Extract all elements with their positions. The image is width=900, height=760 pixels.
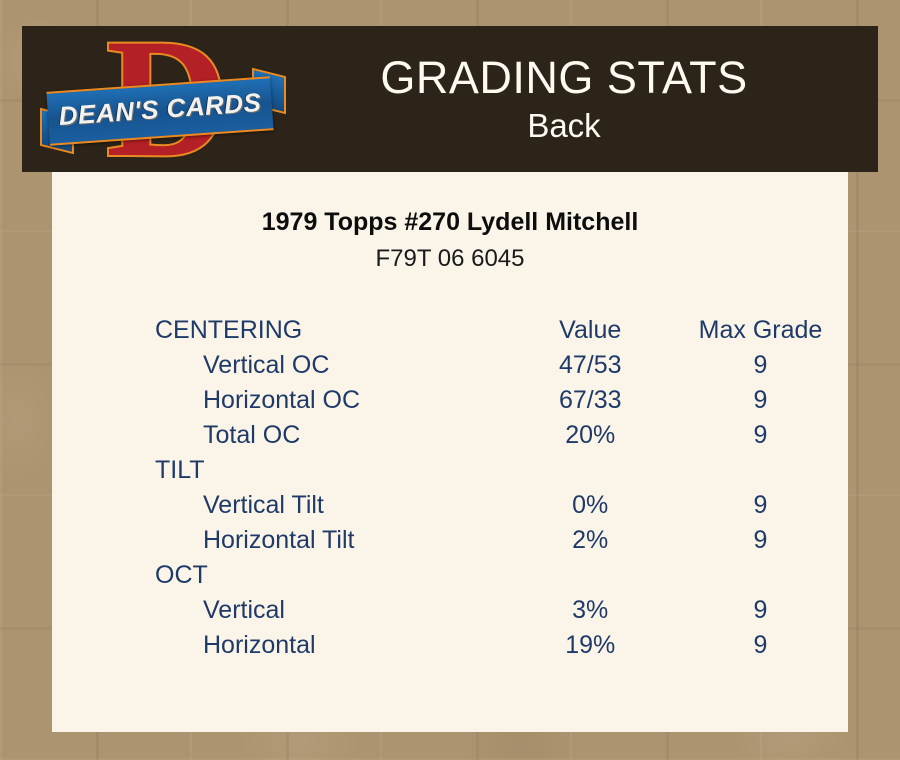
stat-label: Horizontal OC: [52, 383, 507, 418]
table-row: Vertical OC47/539: [52, 348, 848, 383]
table-row: Vertical3%9: [52, 593, 848, 628]
stats-table-head: CENTERING Value Max Grade: [52, 313, 848, 348]
stat-value: 20%: [507, 418, 673, 453]
stats-table-body: Vertical OC47/539Horizontal OC67/339Tota…: [52, 348, 848, 663]
stat-max-grade: 9: [673, 348, 848, 383]
stat-max-grade: 9: [673, 523, 848, 558]
stat-label: Vertical OC: [52, 348, 507, 383]
stat-value: 2%: [507, 523, 673, 558]
stat-max-grade: 9: [673, 593, 848, 628]
section-header-row: OCT: [52, 558, 848, 593]
stat-max-grade: 9: [673, 418, 848, 453]
card-title: 1979 Topps #270 Lydell Mitchell: [52, 208, 848, 237]
column-header-max-grade: Max Grade: [673, 313, 848, 348]
stat-max-grade: 9: [673, 383, 848, 418]
table-row: Vertical Tilt0%9: [52, 488, 848, 523]
section-label: OCT: [52, 558, 507, 593]
header-bar: D DEAN'S CARDS GRADING STATS Back: [22, 26, 878, 172]
table-row: Horizontal Tilt2%9: [52, 523, 848, 558]
stat-value: [507, 558, 673, 593]
stat-value: 67/33: [507, 383, 673, 418]
deans-cards-logo: D DEAN'S CARDS: [22, 26, 290, 172]
stat-max-grade: [673, 558, 848, 593]
column-header-value: Value: [507, 313, 673, 348]
table-row: Horizontal OC67/339: [52, 383, 848, 418]
stat-label: Horizontal Tilt: [52, 523, 507, 558]
stat-value: 19%: [507, 628, 673, 663]
column-header-centering: CENTERING: [52, 313, 507, 348]
stat-label: Vertical Tilt: [52, 488, 507, 523]
section-label: TILT: [52, 453, 507, 488]
stat-value: 0%: [507, 488, 673, 523]
stat-value: 47/53: [507, 348, 673, 383]
section-header-row: TILT: [52, 453, 848, 488]
stat-label: Vertical: [52, 593, 507, 628]
stat-max-grade: [673, 453, 848, 488]
page-title: GRADING STATS: [290, 52, 838, 104]
page-subtitle: Back: [290, 106, 838, 146]
content-panel: 1979 Topps #270 Lydell Mitchell F79T 06 …: [52, 172, 848, 732]
table-header-row: CENTERING Value Max Grade: [52, 313, 848, 348]
stat-value: 3%: [507, 593, 673, 628]
stat-label: Horizontal: [52, 628, 507, 663]
stat-value: [507, 453, 673, 488]
table-row: Total OC20%9: [52, 418, 848, 453]
header-titles: GRADING STATS Back: [290, 52, 878, 146]
grading-stats-table: CENTERING Value Max Grade Vertical OC47/…: [52, 313, 848, 663]
table-row: Horizontal19%9: [52, 628, 848, 663]
card-serial-number: F79T 06 6045: [52, 245, 848, 273]
stat-max-grade: 9: [673, 628, 848, 663]
stat-max-grade: 9: [673, 488, 848, 523]
stat-label: Total OC: [52, 418, 507, 453]
